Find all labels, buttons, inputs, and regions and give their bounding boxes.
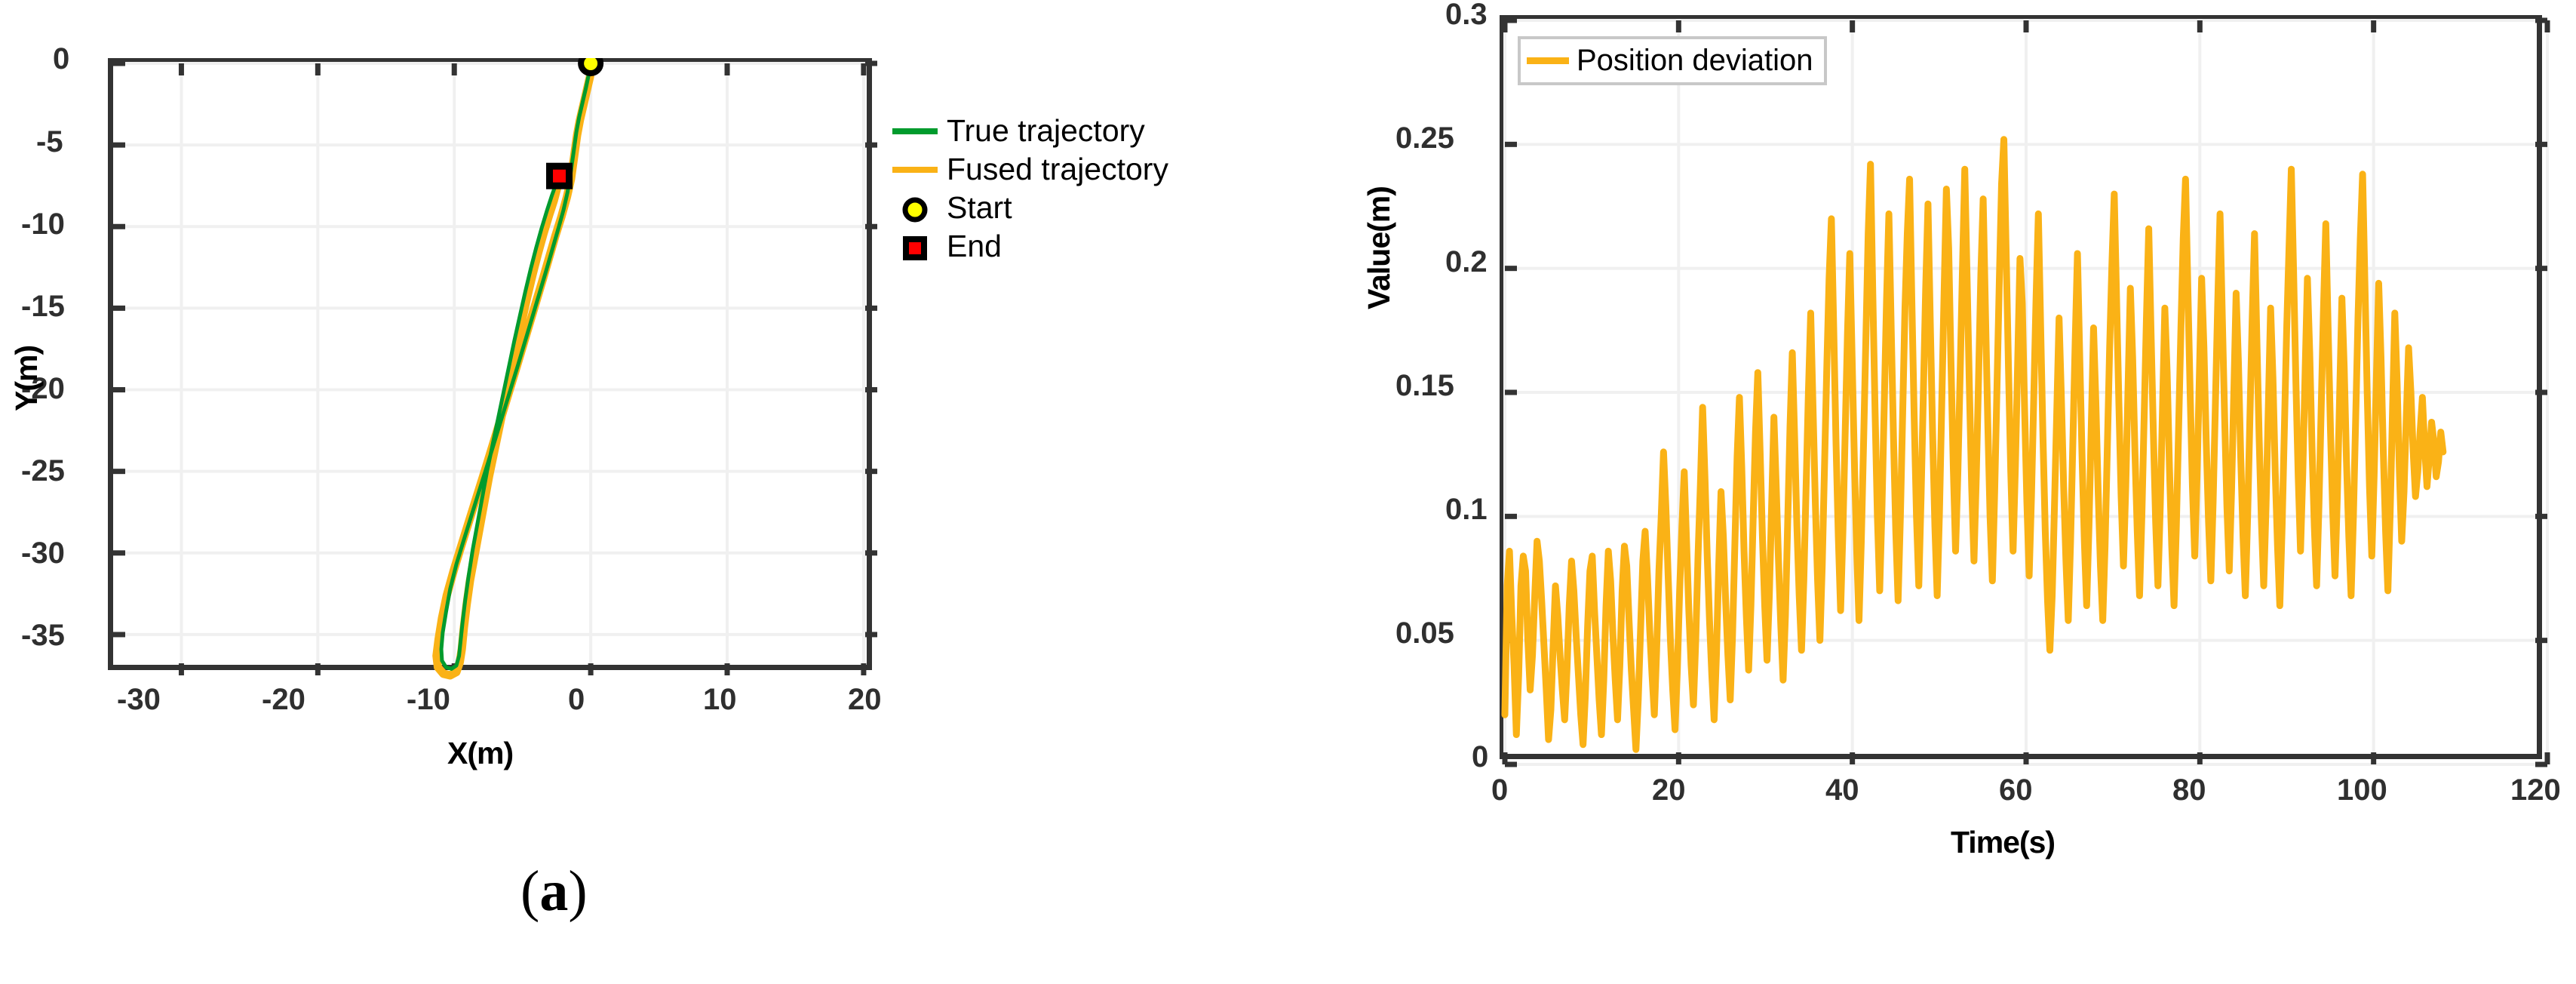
ytick-b-3: 0.15 [1395,369,1454,403]
legend-label: True trajectory [947,113,1145,148]
x-axis-label-a: X(m) [447,736,513,771]
caption-a-letter: a [539,859,568,923]
legend-item-true-trajectory[interactable]: True trajectory [892,113,1217,149]
xtick-b-4: 80 [2172,773,2206,807]
xtick-a-5: 20 [848,683,882,717]
caption-a-open: ( [520,859,539,923]
ytick-a-1: -5 [36,125,63,159]
start-marker-icon [901,196,929,223]
ytick-b-2: 0.1 [1445,493,1488,527]
ytick-a-7: -35 [21,619,65,653]
figure-container: 0 -5 -10 -15 -20 -25 -30 -35 -30 -20 -10… [0,0,2576,984]
panel-a-trajectory: 0 -5 -10 -15 -20 -25 -30 -35 -30 -20 -10… [0,0,1282,984]
ytick-a-0: 0 [53,42,69,76]
ytick-b-6: 0.3 [1445,0,1488,32]
xtick-a-4: 10 [703,683,737,717]
xtick-a-1: -20 [262,683,305,717]
ytick-a-6: -30 [21,537,65,570]
legend-b[interactable]: Position deviation [1518,36,1827,85]
legend-a: True trajectory Fused trajectory Start [892,113,1217,267]
deviation-plot-svg [1500,15,2553,770]
caption-a-close: ) [568,859,587,923]
legend-item-end[interactable]: End [892,229,1217,264]
x-axis-label-b: Time(s) [1951,825,2055,860]
plot-area-b [1500,15,2542,759]
legend-label: Start [947,190,1012,225]
legend-label: End [947,229,1002,263]
ytick-b-0: 0 [1472,740,1488,774]
xtick-b-0: 0 [1491,773,1508,807]
ytick-b-1: 0.05 [1395,617,1454,650]
end-marker-icon [901,235,929,262]
caption-a: (a) [520,859,588,924]
y-axis-label-a: Y(m) [9,346,45,411]
xtick-b-3: 60 [1999,773,2033,807]
xtick-b-6: 120 [2510,773,2561,807]
panel-b-deviation: 0.3 0.25 0.2 0.15 0.1 0.05 0 0 20 40 60 … [1282,0,2576,984]
legend-swatch-line-icon [892,167,938,173]
legend-label: Fused trajectory [947,152,1168,186]
legend-swatch-line-icon [1527,57,1569,64]
ytick-a-2: -10 [21,208,65,241]
ytick-b-5: 0.25 [1395,121,1454,155]
xtick-b-1: 20 [1652,773,1686,807]
xtick-a-3: 0 [568,683,585,717]
xtick-a-0: -30 [117,683,161,717]
trajectory-plot-svg [108,58,883,681]
xtick-a-2: -10 [407,683,450,717]
ytick-b-4: 0.2 [1445,245,1488,279]
plot-area-a [108,58,872,670]
ytick-a-5: -25 [21,454,65,488]
xtick-b-5: 100 [2337,773,2387,807]
ytick-a-3: -15 [21,290,65,324]
legend-item-start[interactable]: Start [892,190,1217,226]
xtick-b-2: 40 [1825,773,1859,807]
y-axis-label-b: Value(m) [1362,186,1397,309]
legend-label-position-deviation: Position deviation [1577,44,1813,78]
legend-swatch-line-icon [892,128,938,134]
legend-item-fused-trajectory[interactable]: Fused trajectory [892,152,1217,187]
